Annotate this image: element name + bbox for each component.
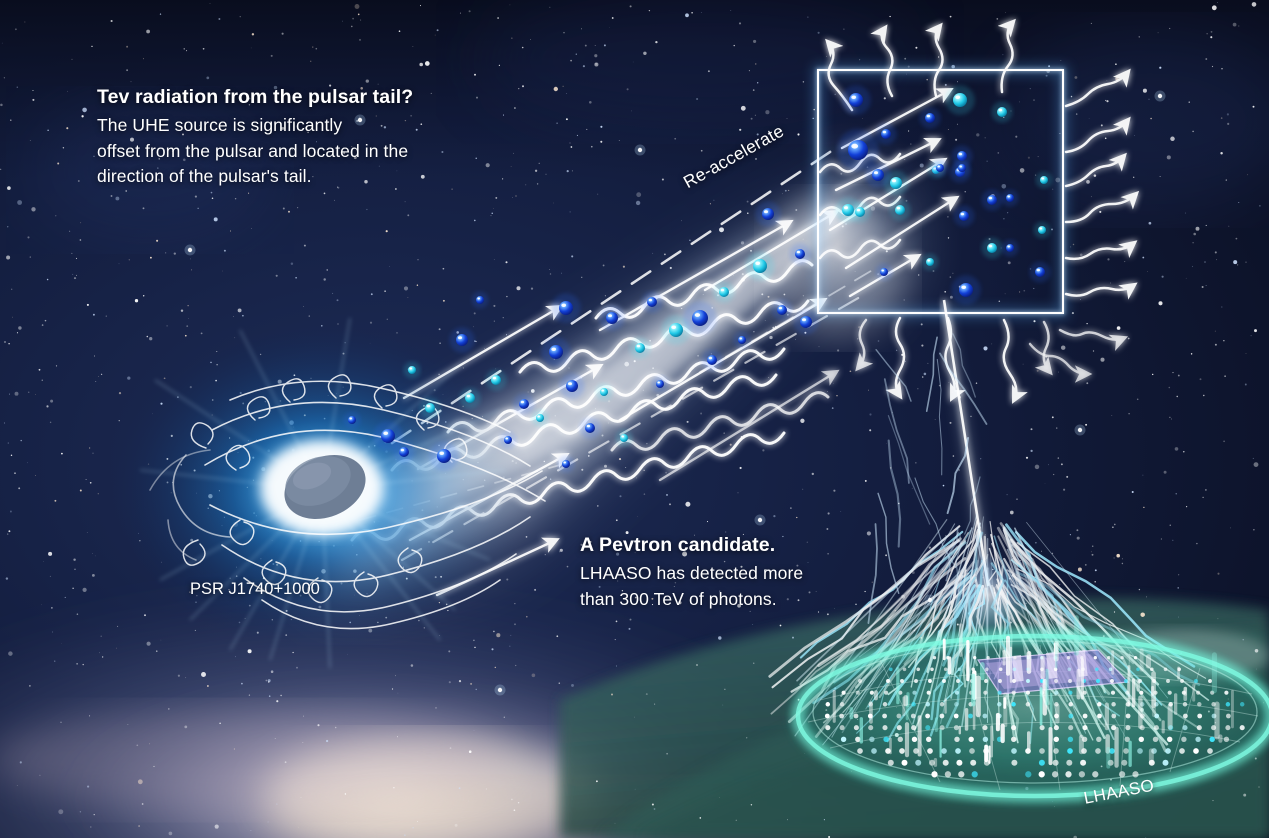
pulsar-name-label: PSR J1740+1000 — [190, 580, 320, 599]
caption-pevtron: A Pevtron candidate. LHAASO has detected… — [580, 534, 880, 612]
caption-pulsar-tail-line3: direction of the pulsar's tail. — [97, 164, 467, 190]
caption-pevtron-line2: than 300 TeV of photons. — [580, 587, 880, 613]
caption-pulsar-tail-body: The UHE source is significantly offset f… — [97, 113, 467, 190]
illustration-canvas: Tev radiation from the pulsar tail? The … — [0, 0, 1269, 838]
caption-pevtron-body: LHAASO has detected more than 300 TeV of… — [580, 561, 880, 612]
caption-pulsar-tail-heading: Tev radiation from the pulsar tail? — [97, 86, 467, 109]
caption-pulsar-tail: Tev radiation from the pulsar tail? The … — [97, 86, 467, 190]
caption-pevtron-heading: A Pevtron candidate. — [580, 534, 880, 557]
caption-pulsar-tail-line1: The UHE source is significantly — [97, 113, 467, 139]
caption-pulsar-tail-line2: offset from the pulsar and located in th… — [97, 139, 467, 165]
lhaaso-detector-array — [798, 615, 1269, 796]
acceleration-box — [768, 70, 1063, 338]
caption-pevtron-line1: LHAASO has detected more — [580, 561, 880, 587]
